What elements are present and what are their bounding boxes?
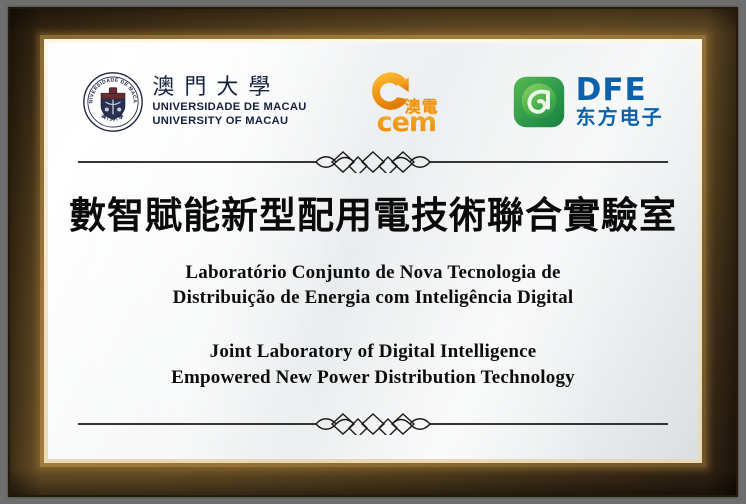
um-portuguese-name: UNIVERSIDADE DE MACAU [152,100,306,114]
title-english-line1: Joint Laboratory of Digital Intelligence [171,339,575,365]
divider-bottom [78,413,668,435]
picture-frame: UNIVERSIDADE DE MACAU 澳門大學 [8,7,738,497]
dfe-logo-text: DFE 东方电子 [576,76,664,127]
screenshot-root: UNIVERSIDADE DE MACAU 澳門大學 [0,0,746,504]
dfe-english-name: DFE [576,76,647,105]
um-chinese-name: 澳門大學 [152,76,280,100]
cem-wordmark: cem [377,109,436,136]
plaque-content: UNIVERSIDADE DE MACAU 澳門大學 [48,43,698,459]
dfe-mark-icon [511,74,567,130]
dfe-chinese-name: 东方电子 [576,107,664,128]
title-portuguese-line1: Laboratório Conjunto de Nova Tecnologia … [173,260,574,286]
title-portuguese-line2: Distribuição de Energia com Inteligência… [173,285,574,311]
ornamental-knot-divider-icon [78,413,668,435]
logo-row: UNIVERSIDADE DE MACAU 澳門大學 [48,43,698,151]
title-english: Joint Laboratory of Digital Intelligence… [171,339,575,390]
um-english-name: UNIVERSITY OF MACAU [152,114,288,128]
title-portuguese: Laboratório Conjunto de Nova Tecnologia … [173,260,574,311]
um-logo-text: 澳門大學 UNIVERSIDADE DE MACAU UNIVERSITY OF… [152,76,306,128]
logo-dfe: DFE 东方电子 [511,74,664,130]
ornamental-knot-divider-icon [78,151,668,173]
logo-cem: 澳電 cem [361,65,457,139]
plaque-plate: UNIVERSIDADE DE MACAU 澳門大學 [48,43,698,459]
divider-top [78,151,668,173]
title-chinese: 數智賦能新型配用電技術聯合實驗室 [69,195,677,236]
um-seal-icon: UNIVERSIDADE DE MACAU 澳門大學 [82,71,144,133]
title-english-line2: Empowered New Power Distribution Technol… [171,365,575,391]
logo-university-of-macau: UNIVERSIDADE DE MACAU 澳門大學 [82,71,306,133]
